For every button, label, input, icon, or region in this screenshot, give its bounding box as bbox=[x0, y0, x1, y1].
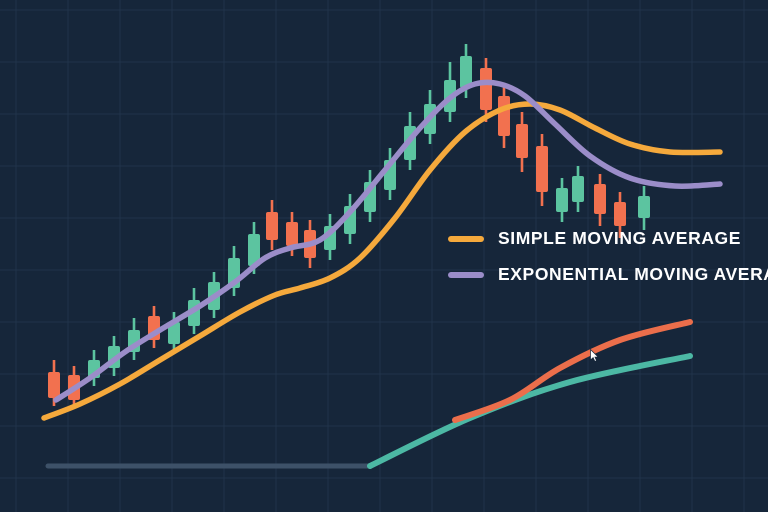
chart-legend: SIMPLE MOVING AVERAGE EXPONENTIAL MOVING… bbox=[448, 228, 768, 286]
legend-label-ema: EXPONENTIAL MOVING AVERAGE bbox=[498, 266, 768, 284]
legend-label-sma: SIMPLE MOVING AVERAGE bbox=[498, 230, 741, 248]
sma-line-swatch-icon bbox=[448, 236, 484, 242]
ema-line-swatch-icon bbox=[448, 272, 484, 278]
candlestick-chart-container: SIMPLE MOVING AVERAGE EXPONENTIAL MOVING… bbox=[0, 0, 768, 512]
legend-item-ema[interactable]: EXPONENTIAL MOVING AVERAGE bbox=[448, 264, 768, 286]
legend-item-sma[interactable]: SIMPLE MOVING AVERAGE bbox=[448, 228, 768, 250]
